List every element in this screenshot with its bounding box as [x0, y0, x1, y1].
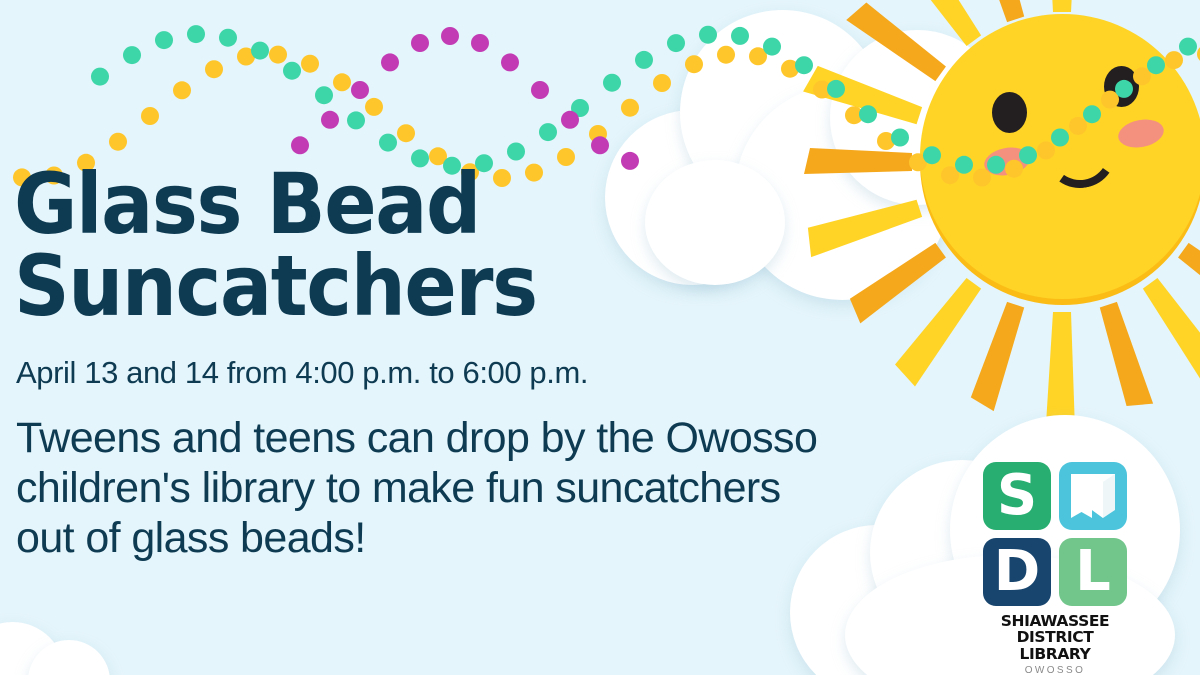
garland-dot	[923, 146, 941, 164]
garland-dot	[1069, 117, 1087, 135]
garland-dot	[471, 34, 489, 52]
garland-dot	[379, 134, 397, 152]
garland-dot	[591, 136, 609, 154]
logo-wordmark: SHIAWASSEE DISTRICT LIBRARY	[980, 613, 1130, 662]
garland-dot	[155, 31, 173, 49]
logo-tile-book	[1059, 462, 1127, 530]
garland-dot	[301, 55, 319, 73]
garland-dot	[891, 129, 909, 147]
garland-dot	[283, 62, 301, 80]
garland-dot	[123, 46, 141, 64]
garland-dot	[251, 42, 269, 60]
garland-dot	[987, 156, 1005, 174]
cloud-bottom-left	[0, 600, 160, 675]
garland-dot	[1051, 129, 1069, 147]
garland-dot	[321, 111, 339, 129]
garland-dot	[635, 51, 653, 69]
event-datetime: April 13 and 14 from 4:00 p.m. to 6:00 p…	[16, 355, 588, 391]
event-poster: Glass Bead Suncatchers April 13 and 14 f…	[0, 0, 1200, 675]
logo-tile-d: D	[983, 538, 1051, 606]
garland-dot	[603, 74, 621, 92]
garland-dot	[187, 25, 205, 43]
garland-dot	[1005, 160, 1023, 178]
garland-dot	[411, 34, 429, 52]
garland-dot	[763, 38, 781, 56]
garland-dot	[441, 27, 459, 45]
garland-dot	[795, 56, 813, 74]
library-logo: S D L SHIAWASSEE DISTRICT LIBRARY OWOS	[980, 462, 1130, 675]
garland-dot	[1179, 38, 1197, 56]
garland-dot	[859, 105, 877, 123]
garland-dot	[827, 80, 845, 98]
open-book-icon	[1059, 462, 1127, 530]
teal-garland	[91, 25, 1197, 175]
garland-dot	[621, 99, 639, 117]
logo-tile-l: L	[1059, 538, 1127, 606]
garland-dot	[501, 53, 519, 71]
garland-dot	[315, 86, 333, 104]
garland-dot	[621, 152, 639, 170]
garland-dot	[1019, 146, 1037, 164]
logo-tiles: S D L	[983, 462, 1127, 606]
garland-dot	[141, 107, 159, 125]
garland-dot	[539, 123, 557, 141]
logo-city: OWOSSO	[980, 665, 1130, 675]
garland-dot	[91, 68, 109, 86]
garland-dot	[667, 34, 685, 52]
garland-dot	[717, 46, 735, 64]
logo-letter-s: S	[983, 462, 1051, 530]
garland-dot	[365, 98, 383, 116]
garland-dot	[109, 133, 127, 151]
logo-name-line2: DISTRICT LIBRARY	[980, 629, 1130, 662]
logo-letter-d: D	[983, 538, 1051, 606]
garland-dot	[1165, 51, 1183, 69]
garland-dot	[1037, 141, 1055, 159]
garland-dot	[205, 60, 223, 78]
garland-dot	[1133, 67, 1151, 85]
garland-dot	[397, 124, 415, 142]
garland-dot	[731, 27, 749, 45]
garland-dot	[561, 111, 579, 129]
garland-dot	[685, 55, 703, 73]
garland-dot	[173, 81, 191, 99]
garland-dot	[347, 111, 365, 129]
logo-letter-l: L	[1059, 538, 1127, 606]
garland-dot	[699, 26, 717, 44]
garland-dot	[1147, 56, 1165, 74]
magenta-garland	[291, 27, 639, 170]
logo-tile-s: S	[983, 462, 1051, 530]
garland-dot	[973, 169, 991, 187]
garland-dot	[219, 29, 237, 47]
garland-dot	[531, 81, 549, 99]
garland-dot	[269, 46, 287, 64]
event-description: Tweens and teens can drop by the Owosso …	[16, 414, 846, 564]
garland-dot	[381, 53, 399, 71]
garland-dot	[351, 81, 369, 99]
garland-dot	[955, 156, 973, 174]
page-title: Glass Bead Suncatchers	[14, 163, 603, 328]
garland-dot	[653, 74, 671, 92]
garland-dot	[291, 136, 309, 154]
garland-dot	[507, 143, 525, 161]
garland-dot	[333, 73, 351, 91]
logo-name-line1: SHIAWASSEE	[980, 613, 1130, 629]
garland-dot	[1115, 80, 1133, 98]
garland-dot	[1083, 105, 1101, 123]
